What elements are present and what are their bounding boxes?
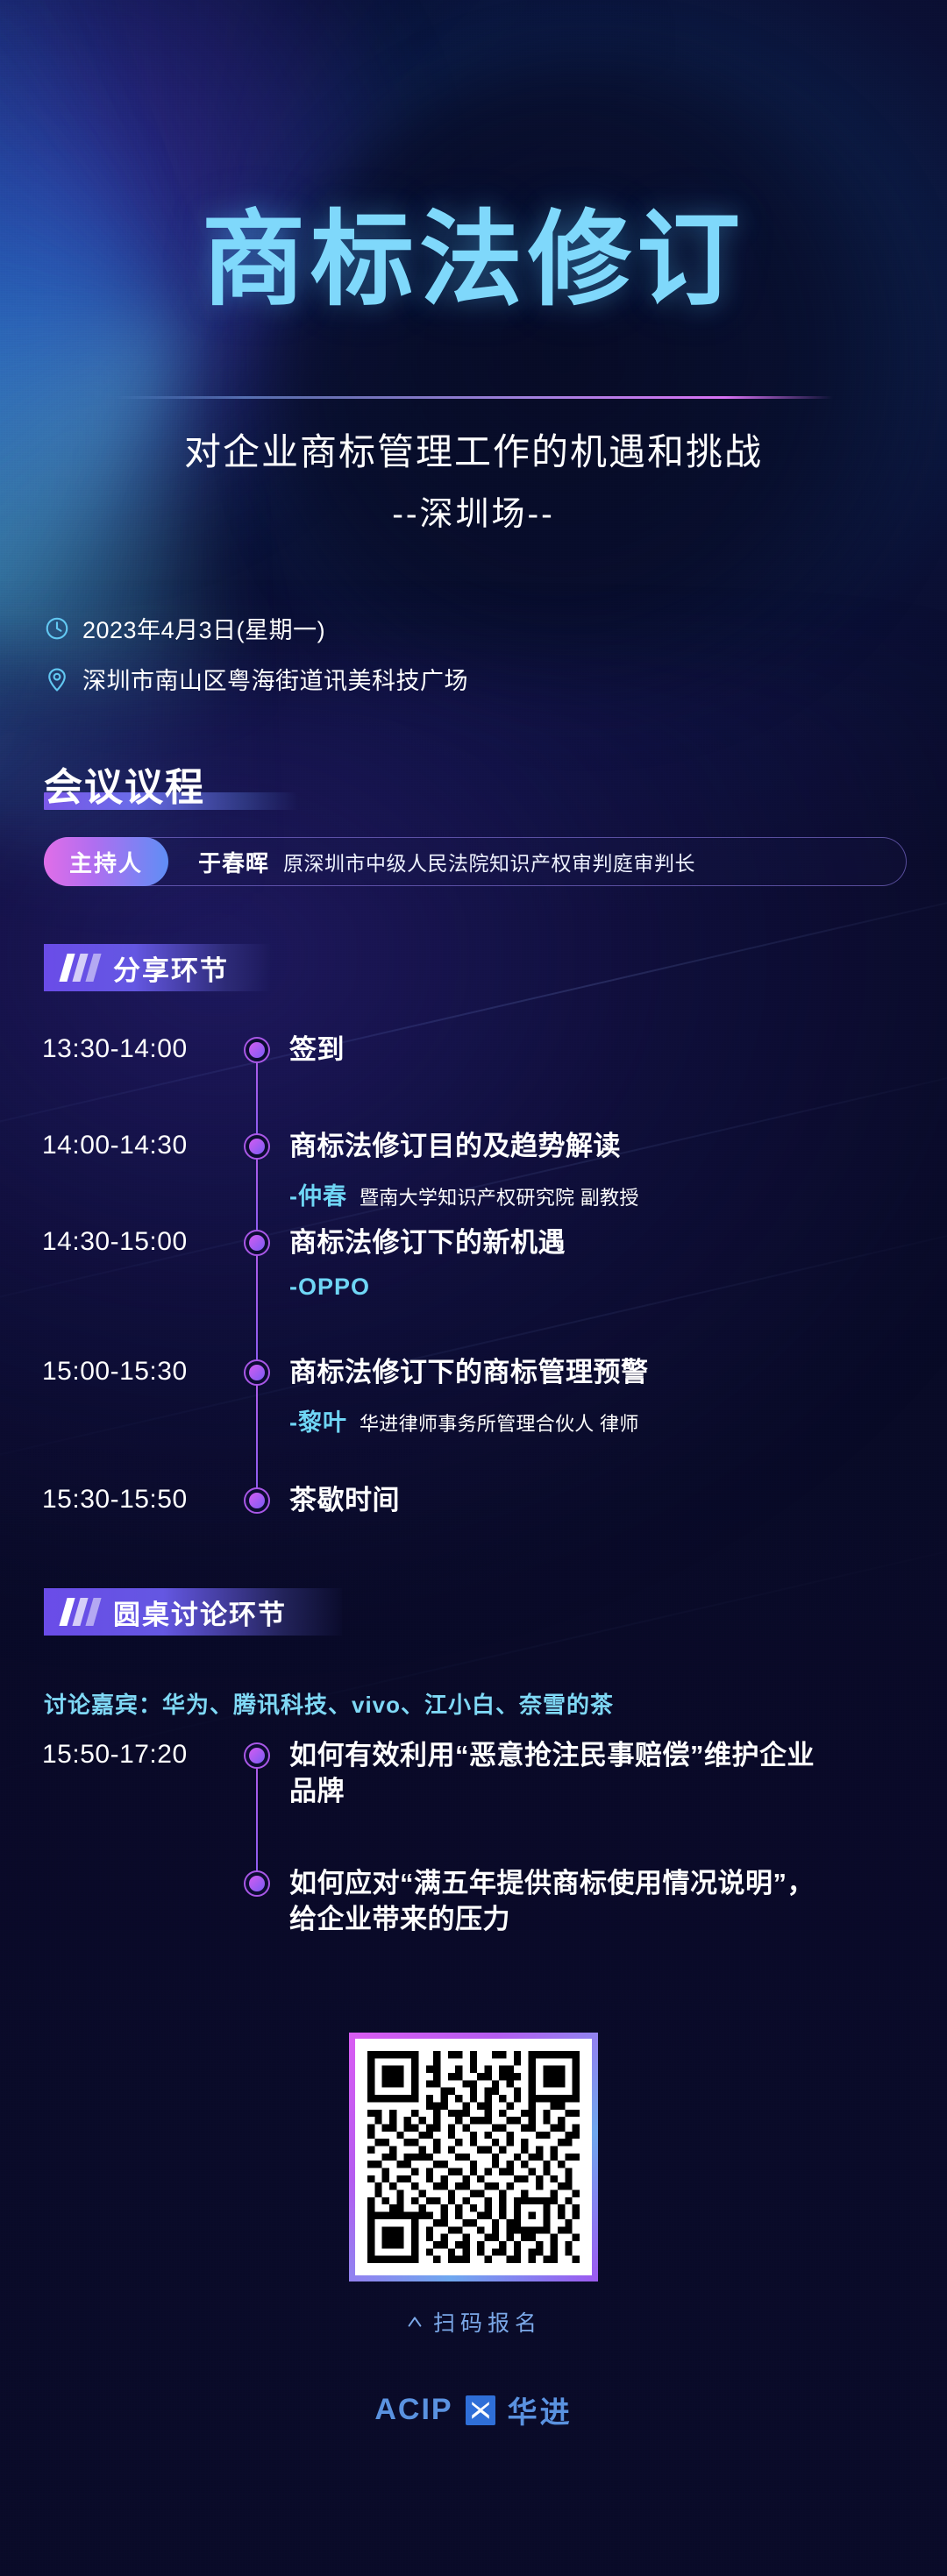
timeline-speaker-row: -OPPO	[289, 1274, 382, 1301]
clock-icon	[44, 615, 70, 642]
section-badge-roundtable-label: 圆桌讨论环节	[113, 1593, 287, 1632]
host-row: 主持人 于春晖 原深圳市中级人民法院知识产权审判庭审判长	[44, 837, 907, 886]
slanted-bars-icon	[63, 1598, 97, 1626]
section-badge-share: 分享环节	[44, 944, 270, 991]
poster-subtitle: 对企业商标管理工作的机遇和挑战	[0, 422, 947, 476]
timeline-dot	[244, 1870, 270, 1897]
timeline-topic: 如何有效利用“恶意抢注民事赔偿”维护企业品牌	[289, 1738, 829, 1810]
title-divider	[114, 396, 833, 399]
host-name: 于春晖	[198, 846, 269, 878]
timeline-time: 14:30-15:00	[42, 1227, 233, 1257]
poster-root: 商标法修订 对企业商标管理工作的机遇和挑战 --深圳场-- 2023年4月3日(…	[0, 0, 947, 2576]
poster-main-title: 商标法修订	[0, 209, 947, 312]
timeline-speaker-row: -黎叶 华进律师事务所管理合伙人 律师	[289, 1403, 639, 1437]
agenda-heading: 会议议程	[44, 756, 205, 812]
timeline-topic: 商标法修订目的及趋势解读	[289, 1129, 842, 1165]
timeline-speaker-name: -黎叶	[289, 1403, 347, 1437]
qr-code-image	[367, 2051, 580, 2263]
timeline-connector	[256, 1373, 258, 1501]
timeline-connector	[256, 1050, 258, 1146]
event-date-text: 2023年4月3日(星期一)	[82, 611, 325, 645]
timeline-connector	[256, 1146, 258, 1243]
host-organization: 原深圳市中级人民法院知识产权审判庭审判长	[283, 847, 695, 876]
timeline-speaker-org: 华进律师事务所管理合伙人 律师	[360, 1409, 639, 1437]
footer-logo: ACIP 华进	[0, 2388, 947, 2431]
timeline-speaker-row: -仲春 暨南大学知识产权研究院 副教授	[289, 1177, 639, 1211]
timeline-topic: 商标法修订下的商标管理预警	[289, 1355, 842, 1391]
event-date-row: 2023年4月3日(星期一)	[44, 611, 325, 645]
poster-city-label: --深圳场--	[0, 486, 947, 535]
host-badge: 主持人	[44, 837, 168, 886]
timeline-dot	[244, 1487, 270, 1514]
timeline-time: 15:00-15:30	[42, 1357, 233, 1387]
timeline-topic: 茶歇时间	[289, 1483, 842, 1519]
section-badge-roundtable: 圆桌讨论环节	[44, 1588, 342, 1636]
timeline-time: 14:00-14:30	[42, 1131, 233, 1160]
scan-to-register-text: 扫码报名	[433, 2306, 542, 2338]
timeline-connector	[256, 1243, 258, 1373]
slanted-bars-icon	[63, 954, 97, 982]
timeline-speaker-org: 暨南大学知识产权研究院 副教授	[360, 1182, 639, 1210]
location-pin-icon	[44, 666, 70, 692]
timeline-connector	[256, 1756, 258, 1884]
logo-chinese-text: 华进	[508, 2388, 573, 2431]
timeline-topic: 如何应对“满五年提供商标使用情况说明”，给企业带来的压力	[289, 1866, 837, 1938]
timeline-topic: 签到	[289, 1033, 842, 1068]
logo-acip-text: ACIP	[374, 2393, 452, 2427]
timeline-time: 13:30-14:00	[42, 1034, 233, 1064]
timeline-speaker-name: -OPPO	[289, 1274, 370, 1301]
timeline-speaker-name: -仲春	[289, 1177, 347, 1211]
scan-to-register-row: 扫码报名	[0, 2306, 947, 2338]
roundtable-guests: 讨论嘉宾：华为、腾讯科技、vivo、江小白、奈雪的茶	[44, 1687, 614, 1720]
timeline-dot	[244, 1133, 270, 1160]
timeline-dot	[244, 1359, 270, 1386]
timeline-dot	[244, 1037, 270, 1063]
timeline-dot	[244, 1230, 270, 1256]
event-location-row: 深圳市南山区粤海街道讯美科技广场	[44, 662, 468, 696]
logo-mark-icon	[466, 2395, 495, 2425]
section-badge-share-label: 分享环节	[113, 948, 229, 988]
timeline-topic: 商标法修订下的新机遇	[289, 1225, 842, 1261]
timeline-time: 15:30-15:50	[42, 1485, 233, 1515]
timeline-dot	[244, 1742, 270, 1769]
chevron-up-icon	[405, 2312, 424, 2331]
timeline-time: 15:50-17:20	[42, 1740, 233, 1770]
qr-code[interactable]	[349, 2033, 598, 2281]
event-location-text: 深圳市南山区粤海街道讯美科技广场	[82, 662, 468, 696]
